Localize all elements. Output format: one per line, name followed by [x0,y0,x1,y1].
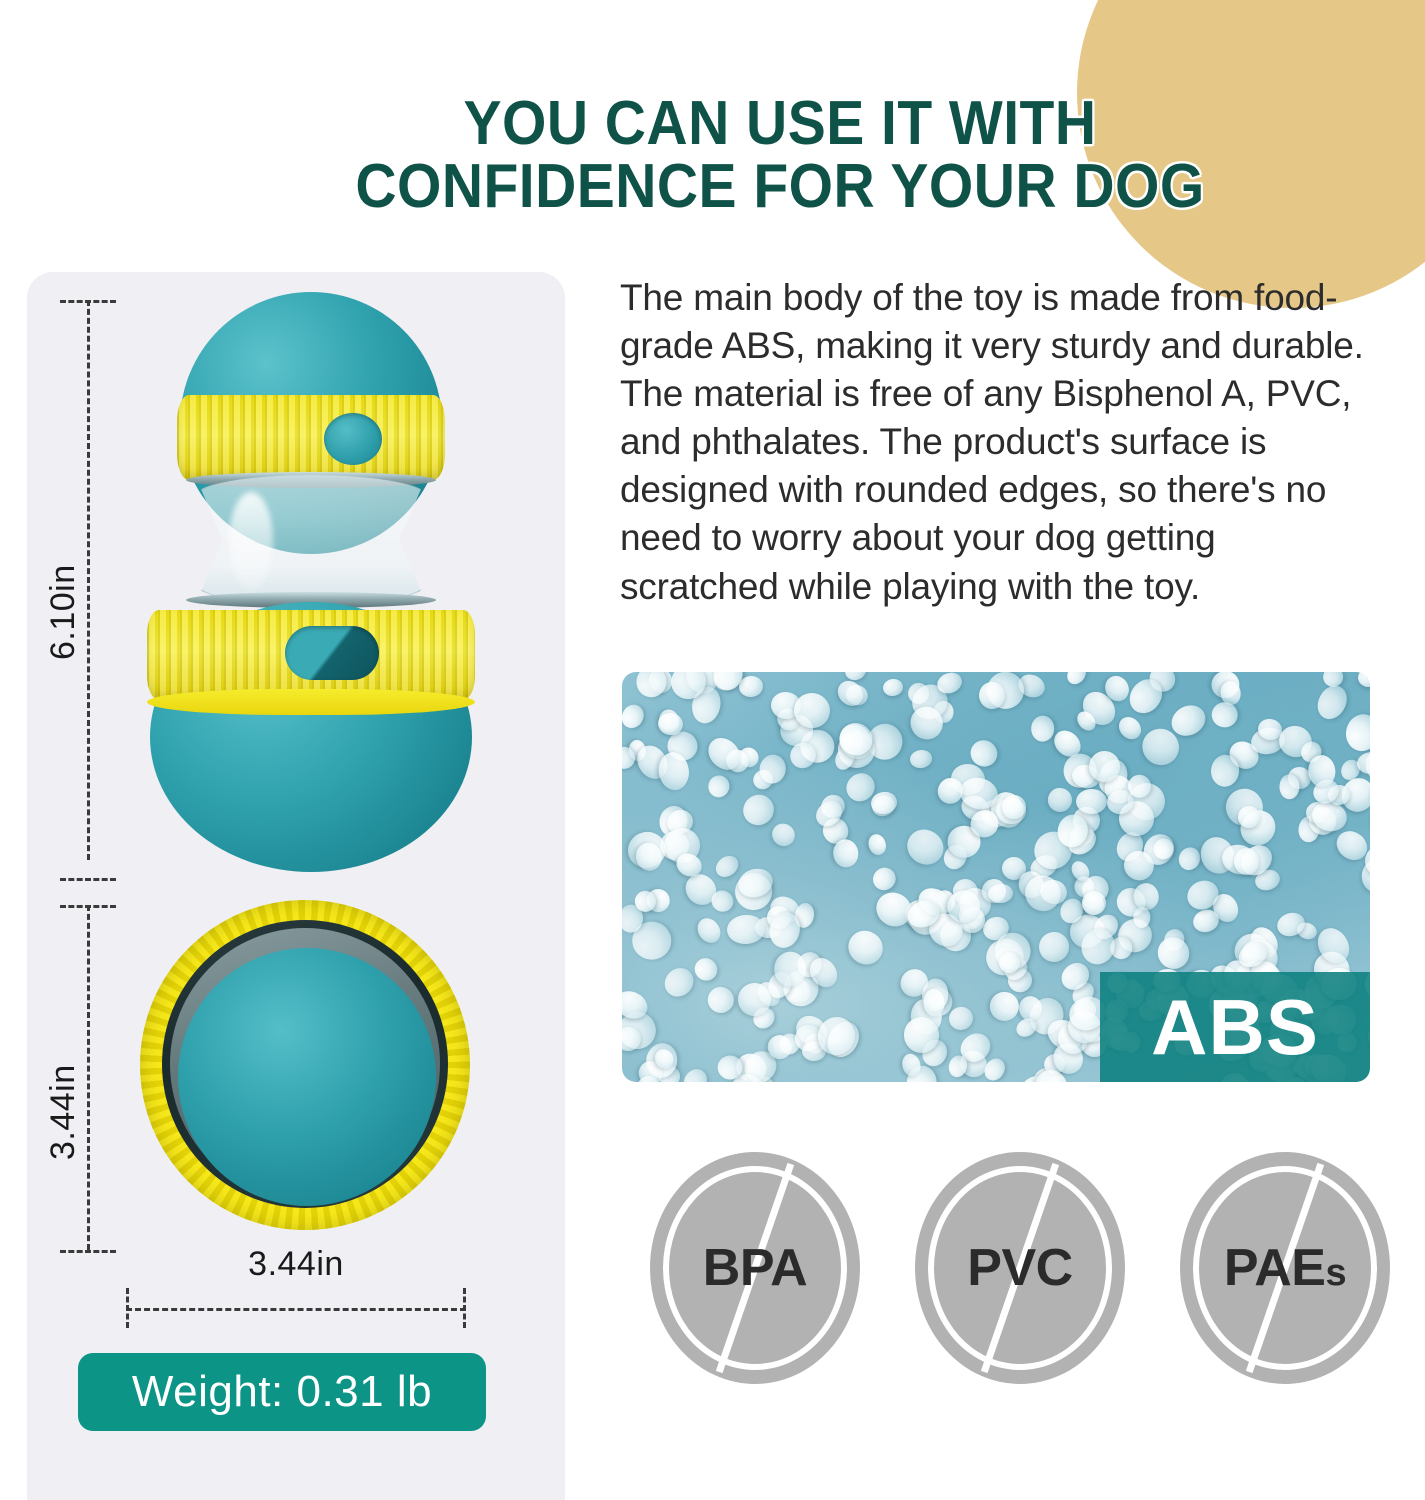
page-title-line-2: CONFIDENCE FOR YOUR DOG [228,155,1332,218]
dimension-tick-top [60,300,116,303]
badge-label-paes-main: PAE [1224,1239,1326,1297]
page-title-line-1: YOU CAN USE IT WITH [228,92,1332,155]
badge-label-paes-suffix: s [1325,1252,1346,1294]
dimension-label-width: 3.44in [126,1245,466,1284]
badge-label-pvc: PVC [967,1238,1072,1298]
dimension-label-total-height: 6.10in [44,564,83,660]
product-bottom-collar-lip [147,689,475,715]
abs-material-photo: ABS [622,672,1370,1082]
dimension-tick-bottom [60,1250,116,1253]
product-sphere-top-face [178,948,436,1206]
abs-pellet [1031,716,1055,742]
abs-pellet [1210,701,1238,729]
abs-pellet [1114,713,1145,744]
abs-pellet [1151,931,1196,976]
abs-pellet [774,952,806,987]
free-from-badge-pvc: PVC [915,1152,1125,1384]
abs-pellet [1175,843,1204,873]
abs-pellet [737,789,780,832]
abs-pellet [702,982,739,1019]
abs-pellet [635,672,668,699]
abs-pellet [622,701,648,732]
abs-pellet [909,748,934,768]
abs-pellet [869,863,901,895]
product-top-button-icon [324,413,382,465]
abs-pellet [1342,710,1370,754]
abs-pellet [1076,789,1107,815]
weight-badge: Weight: 0.31 lb [78,1353,486,1431]
product-waist-highlight [229,492,273,590]
abs-pellet [833,676,869,711]
abs-pellet [767,819,799,851]
abs-pellet [1312,681,1352,724]
abs-pellet [690,954,722,986]
free-from-badge-bpa: BPA [650,1152,860,1384]
abs-pellet [693,914,725,947]
dimension-cap-right [463,1288,466,1328]
dimension-bar [126,1308,466,1311]
abs-pellet [1001,794,1026,819]
description-paragraph: The main body of the toy is made from fo… [620,274,1380,611]
abs-pellet [1063,672,1089,687]
abs-pellet [1358,672,1370,688]
badge-label-paes: PAEs [1224,1238,1346,1298]
abs-pellet [882,678,904,698]
abs-pellet [679,1064,712,1082]
abs-pellet [866,832,888,857]
dimension-tick-mid-upper [60,878,116,881]
abs-pellet [987,989,1021,1024]
abs-pellet [842,924,890,971]
abs-pellet [901,823,950,871]
dimension-label-lower-height: 3.44in [44,1064,83,1160]
product-image-side-view [133,292,483,872]
abs-pellet [1279,775,1299,800]
dimension-tick-mid-lower [60,905,116,908]
abs-pellet [707,773,732,799]
badge-label-bpa: BPA [703,1238,807,1298]
product-treat-port-icon [285,626,379,680]
dimension-line-vertical-total [87,300,90,860]
product-image-top-view [140,900,470,1230]
infographic-page: YOU CAN USE IT WITH CONFIDENCE FOR YOUR … [0,0,1425,1500]
abs-pellet [659,963,699,1003]
abs-pellet [832,838,860,868]
product-top-collar [177,395,445,480]
abs-pellet [726,914,765,945]
abs-material-tag: ABS [1100,972,1370,1082]
abs-pellet [712,852,742,881]
abs-pellet [1369,804,1370,843]
abs-pellet [1237,805,1260,828]
free-from-badge-group: BPA PVC PAEs [650,1148,1390,1388]
dimension-line-horizontal-width [126,1288,466,1324]
dimension-line-vertical-lower [87,905,90,1250]
page-title: YOU CAN USE IT WITH CONFIDENCE FOR YOUR … [228,92,1332,218]
free-from-badge-paes: PAEs [1180,1152,1390,1384]
abs-pellet [1038,931,1071,964]
abs-pellet [1044,784,1076,815]
